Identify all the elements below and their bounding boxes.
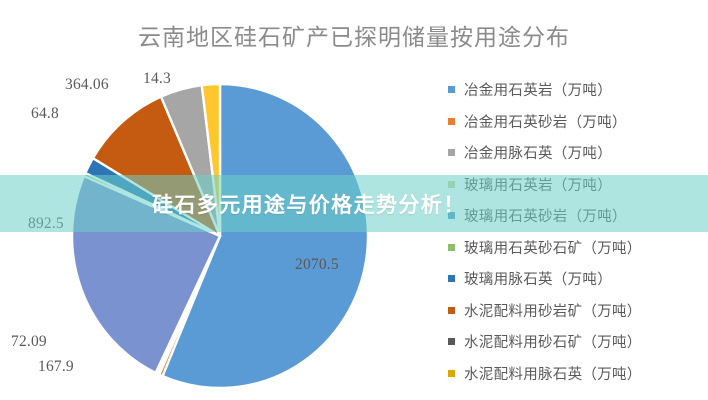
legend-item[interactable]: 冶金用石英岩（万吨） [448,74,706,106]
legend-item-label: 冶金用石英砂岩（万吨） [464,111,627,132]
legend-swatch-icon [448,370,455,377]
data-label-cement-sand-gravel-ore: 167.9 [38,358,74,376]
legend-item[interactable]: 玻璃用石英岩（万吨） [448,169,706,201]
legend-item-label: 水泥配料用砂石矿（万吨） [464,331,642,352]
legend-item[interactable]: 冶金用脉石英（万吨） [448,137,706,169]
legend-item[interactable]: 玻璃用石英砂石矿（万吨） [448,232,706,264]
legend-item[interactable]: 玻璃用石英砂岩（万吨） [448,200,706,232]
legend-item-label: 冶金用石英岩（万吨） [464,79,612,100]
legend-item[interactable]: 水泥配料用砂岩矿（万吨） [448,295,706,327]
legend-swatch-icon [448,212,455,219]
data-label-metallurgical-quartzite: 2070.5 [295,256,339,274]
data-label-glass-quartz-sandstone: 892.5 [28,215,64,233]
legend-swatch-icon [448,275,455,282]
chart-canvas: 云南地区硅石矿产已探明储量按用途分布 2070.5 14.3 892.5 64.… [0,0,708,400]
data-label-cement-vein-quartz: 72.09 [11,333,47,351]
legend-item-label: 水泥配料用脉石英（万吨） [464,363,642,384]
legend-swatch-icon [448,338,455,345]
legend-item[interactable]: 水泥配料用砂石矿（万吨） [448,326,706,358]
legend-item-label: 玻璃用石英岩（万吨） [464,174,612,195]
legend-item-label: 冶金用脉石英（万吨） [464,142,612,163]
pie-chart-svg [0,60,440,400]
legend-swatch-icon [448,181,455,188]
data-label-metallurgical-quartz-sandstone: 14.3 [143,70,171,88]
legend-item-label: 玻璃用石英砂石矿（万吨） [464,237,642,258]
pie-slice-group [72,84,368,388]
legend-item-label: 玻璃用脉石英（万吨） [464,268,612,289]
legend-swatch-icon [448,244,455,251]
data-label-cement-sandstone-ore: 364.06 [65,76,109,94]
legend-swatch-icon [448,118,455,125]
legend-item-label: 水泥配料用砂岩矿（万吨） [464,300,642,321]
legend-swatch-icon [448,86,455,93]
legend-swatch-icon [448,149,455,156]
legend-item[interactable]: 玻璃用脉石英（万吨） [448,263,706,295]
legend-item[interactable]: 冶金用石英砂岩（万吨） [448,106,706,138]
pie-chart-area: 2070.5 14.3 892.5 64.8 364.06 167.9 72.0… [0,60,440,400]
legend-swatch-icon [448,307,455,314]
legend-item-label: 玻璃用石英砂岩（万吨） [464,205,627,226]
chart-legend: 冶金用石英岩（万吨）冶金用石英砂岩（万吨）冶金用脉石英（万吨）玻璃用石英岩（万吨… [448,74,706,389]
legend-item[interactable]: 水泥配料用脉石英（万吨） [448,358,706,390]
page-title: 云南地区硅石矿产已探明储量按用途分布 [0,18,708,52]
data-label-glass-vein-quartz: 64.8 [31,105,59,123]
